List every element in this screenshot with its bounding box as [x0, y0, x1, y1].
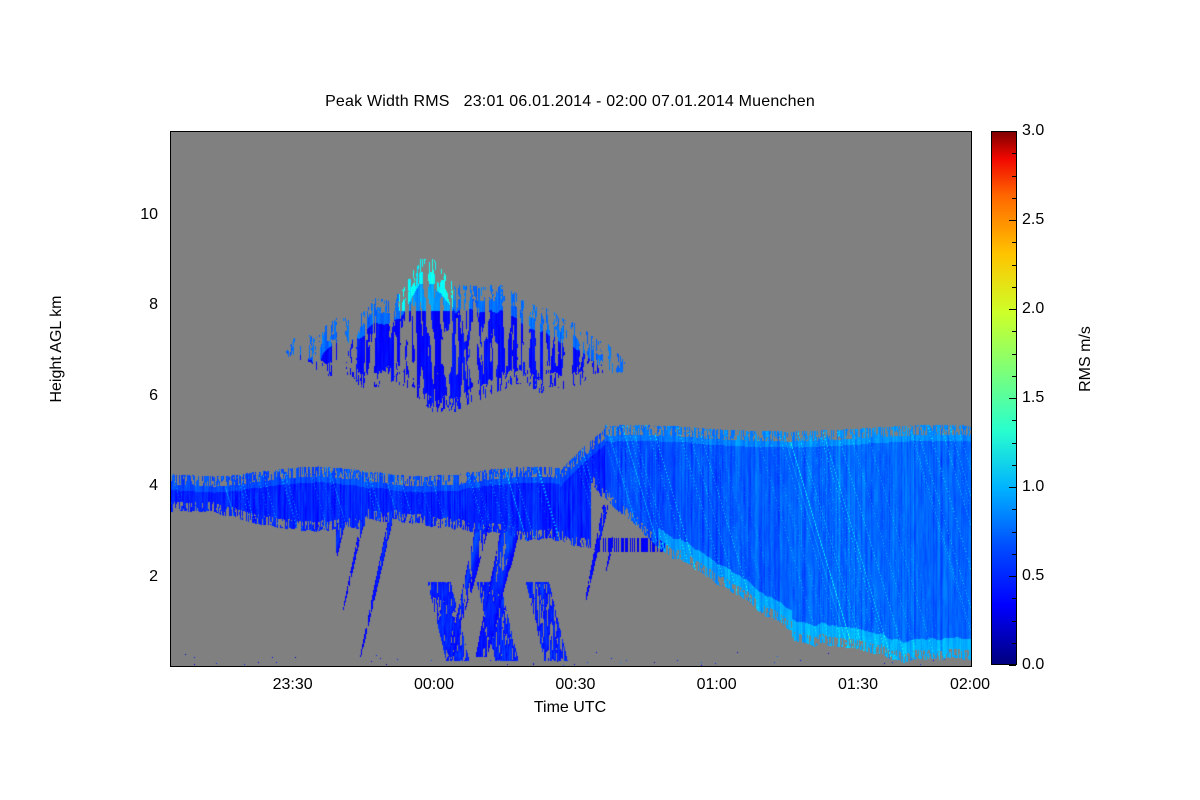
y-axis-tick-labels: 246810 — [110, 131, 158, 665]
x-axis-tick — [971, 131, 972, 132]
y-axis-tick — [971, 465, 972, 466]
colorbar-tick — [1012, 443, 1016, 444]
x-axis-tick — [171, 131, 172, 132]
colorbar-tick — [1012, 598, 1016, 599]
x-axis-tick — [718, 666, 719, 667]
y-axis-tick-label: 4 — [149, 477, 158, 495]
colorbar-tick — [1012, 420, 1016, 421]
x-axis-tick — [812, 131, 813, 132]
colorbar-tick — [1012, 554, 1016, 555]
colorbar-tick — [1012, 376, 1016, 377]
x-axis-tick — [718, 131, 719, 132]
colorbar-tick — [1012, 354, 1016, 355]
x-axis-tick — [624, 131, 625, 132]
plot-area[interactable] — [170, 131, 972, 667]
colorbar-tick — [1012, 509, 1016, 510]
x-axis-tick — [529, 666, 530, 667]
x-axis-tick — [859, 666, 860, 667]
y-axis-tick — [170, 600, 171, 601]
colorbar-tick-label: 0.5 — [1022, 567, 1044, 585]
x-axis-tick — [953, 666, 954, 667]
figure-root: Peak Width RMS 23:01 06.01.2014 - 02:00 … — [0, 0, 1200, 800]
y-axis-tick — [170, 193, 171, 194]
y-axis-tick — [170, 442, 171, 443]
x-axis-tick — [294, 666, 295, 667]
y-axis-tick — [971, 623, 972, 624]
x-axis-tick — [624, 666, 625, 667]
colorbar-tick — [1009, 220, 1016, 221]
x-axis-tick — [294, 131, 295, 132]
x-axis-tick — [812, 666, 813, 667]
y-axis-tick-label: 8 — [149, 296, 158, 314]
y-axis-tick — [170, 148, 171, 149]
y-axis-tick — [170, 171, 171, 172]
y-axis-tick-label: 6 — [149, 387, 158, 405]
x-axis-tick — [482, 131, 483, 132]
y-axis-tick — [170, 216, 171, 217]
x-axis-tick — [576, 666, 577, 667]
x-axis-tick — [906, 131, 907, 132]
colorbar-tick — [1012, 176, 1016, 177]
y-axis-tick — [971, 442, 972, 443]
y-axis-tick — [971, 148, 972, 149]
y-axis-tick — [971, 352, 972, 353]
y-axis-tick — [971, 284, 972, 285]
x-axis-tick — [199, 666, 200, 667]
x-axis-tick-label: 01:00 — [697, 676, 737, 694]
y-axis-tick-label: 2 — [149, 568, 158, 586]
y-axis-tick — [170, 510, 171, 511]
colorbar-tick — [1012, 287, 1016, 288]
y-axis-tick — [170, 238, 171, 239]
y-axis-tick — [170, 374, 171, 375]
y-axis-tick — [170, 487, 171, 488]
x-axis-tick — [529, 131, 530, 132]
colorbar-tick-label: 2.5 — [1022, 211, 1044, 229]
y-axis-tick — [971, 419, 972, 420]
colorbar-tick — [1012, 465, 1016, 466]
x-axis-tick-label: 02:00 — [950, 676, 990, 694]
x-axis-tick — [388, 131, 389, 132]
x-axis-title: Time UTC — [170, 699, 970, 717]
colorbar-tick-label: 1.5 — [1022, 389, 1044, 407]
y-axis-tick — [971, 171, 972, 172]
colorbar-tick-label: 2.0 — [1022, 300, 1044, 318]
x-axis-tick — [576, 131, 577, 132]
colorbar-tick — [1012, 532, 1016, 533]
y-axis-tick — [971, 306, 972, 307]
y-axis-tick-label: 10 — [140, 206, 158, 224]
y-axis-tick — [971, 533, 972, 534]
y-axis-tick — [971, 600, 972, 601]
y-axis-tick — [971, 578, 972, 579]
heatmap-canvas — [171, 132, 971, 666]
x-axis-tick — [671, 666, 672, 667]
colorbar-tick-labels: 0.00.51.01.52.02.53.0 — [1022, 131, 1062, 665]
x-axis-tick — [765, 131, 766, 132]
y-axis-tick — [971, 646, 972, 647]
x-axis-tick — [341, 666, 342, 667]
y-axis-tick — [971, 216, 972, 217]
y-axis-tick — [170, 533, 171, 534]
y-axis-tick — [170, 397, 171, 398]
colorbar-tick — [1012, 621, 1016, 622]
colorbar-tick — [1009, 398, 1016, 399]
x-axis-tick-label: 01:30 — [838, 676, 878, 694]
y-axis-tick — [971, 487, 972, 488]
y-axis-tick — [170, 578, 171, 579]
x-axis-tick-label: 00:00 — [414, 676, 454, 694]
x-axis-tick — [247, 666, 248, 667]
y-axis-tick — [971, 397, 972, 398]
y-axis-tick — [971, 238, 972, 239]
y-axis-tick — [170, 419, 171, 420]
y-axis-tick — [170, 306, 171, 307]
x-axis-tick — [718, 666, 719, 667]
y-axis-tick — [170, 261, 171, 262]
colorbar-tick — [1009, 487, 1016, 488]
colorbar-tick — [1009, 665, 1016, 666]
y-axis-tick — [971, 261, 972, 262]
colorbar-tick — [1012, 153, 1016, 154]
x-axis-tick — [247, 131, 248, 132]
x-axis-tick — [199, 131, 200, 132]
y-axis-tick — [170, 646, 171, 647]
y-axis-tick — [971, 374, 972, 375]
x-axis-tick — [971, 666, 972, 667]
x-axis-tick-label: 23:30 — [273, 676, 313, 694]
x-axis-tick — [171, 666, 172, 667]
x-axis-tick — [435, 666, 436, 667]
y-axis-tick — [170, 284, 171, 285]
colorbar-tick — [1009, 309, 1016, 310]
colorbar-tick — [1012, 242, 1016, 243]
y-axis-tick — [170, 623, 171, 624]
colorbar[interactable] — [991, 131, 1017, 665]
y-axis-tick — [971, 510, 972, 511]
y-axis-title: Height AGL km — [48, 249, 66, 449]
x-axis-tick — [341, 131, 342, 132]
y-axis-tick — [971, 555, 972, 556]
x-axis-tick — [953, 131, 954, 132]
x-axis-tick — [482, 666, 483, 667]
y-axis-tick — [170, 329, 171, 330]
y-axis-tick — [170, 465, 171, 466]
x-axis-tick — [435, 666, 436, 667]
colorbar-tick — [1012, 265, 1016, 266]
page-title: Peak Width RMS 23:01 06.01.2014 - 02:00 … — [0, 93, 1140, 111]
y-axis-tick — [170, 352, 171, 353]
x-axis-tick — [671, 131, 672, 132]
colorbar-tick-label: 3.0 — [1022, 122, 1044, 140]
colorbar-tick — [1012, 331, 1016, 332]
colorbar-tick — [1009, 131, 1016, 132]
x-axis-tick — [388, 666, 389, 667]
y-axis-tick — [971, 329, 972, 330]
x-axis-tick — [859, 666, 860, 667]
x-axis-tick — [906, 666, 907, 667]
colorbar-tick — [1012, 643, 1016, 644]
x-axis-tick — [294, 666, 295, 667]
colorbar-tick — [1009, 576, 1016, 577]
x-axis-tick — [576, 666, 577, 667]
x-axis-tick-label: 00:30 — [555, 676, 595, 694]
x-axis-tick — [435, 131, 436, 132]
colorbar-tick — [1012, 198, 1016, 199]
y-axis-tick — [971, 193, 972, 194]
colorbar-title: RMS m/s — [1077, 269, 1095, 449]
colorbar-tick-label: 0.0 — [1022, 656, 1044, 674]
x-axis-tick — [765, 666, 766, 667]
x-axis-tick — [859, 131, 860, 132]
x-axis-tick-labels: 23:3000:0000:3001:0001:3002:00 — [170, 676, 970, 700]
y-axis-tick — [170, 555, 171, 556]
colorbar-tick-label: 1.0 — [1022, 478, 1044, 496]
